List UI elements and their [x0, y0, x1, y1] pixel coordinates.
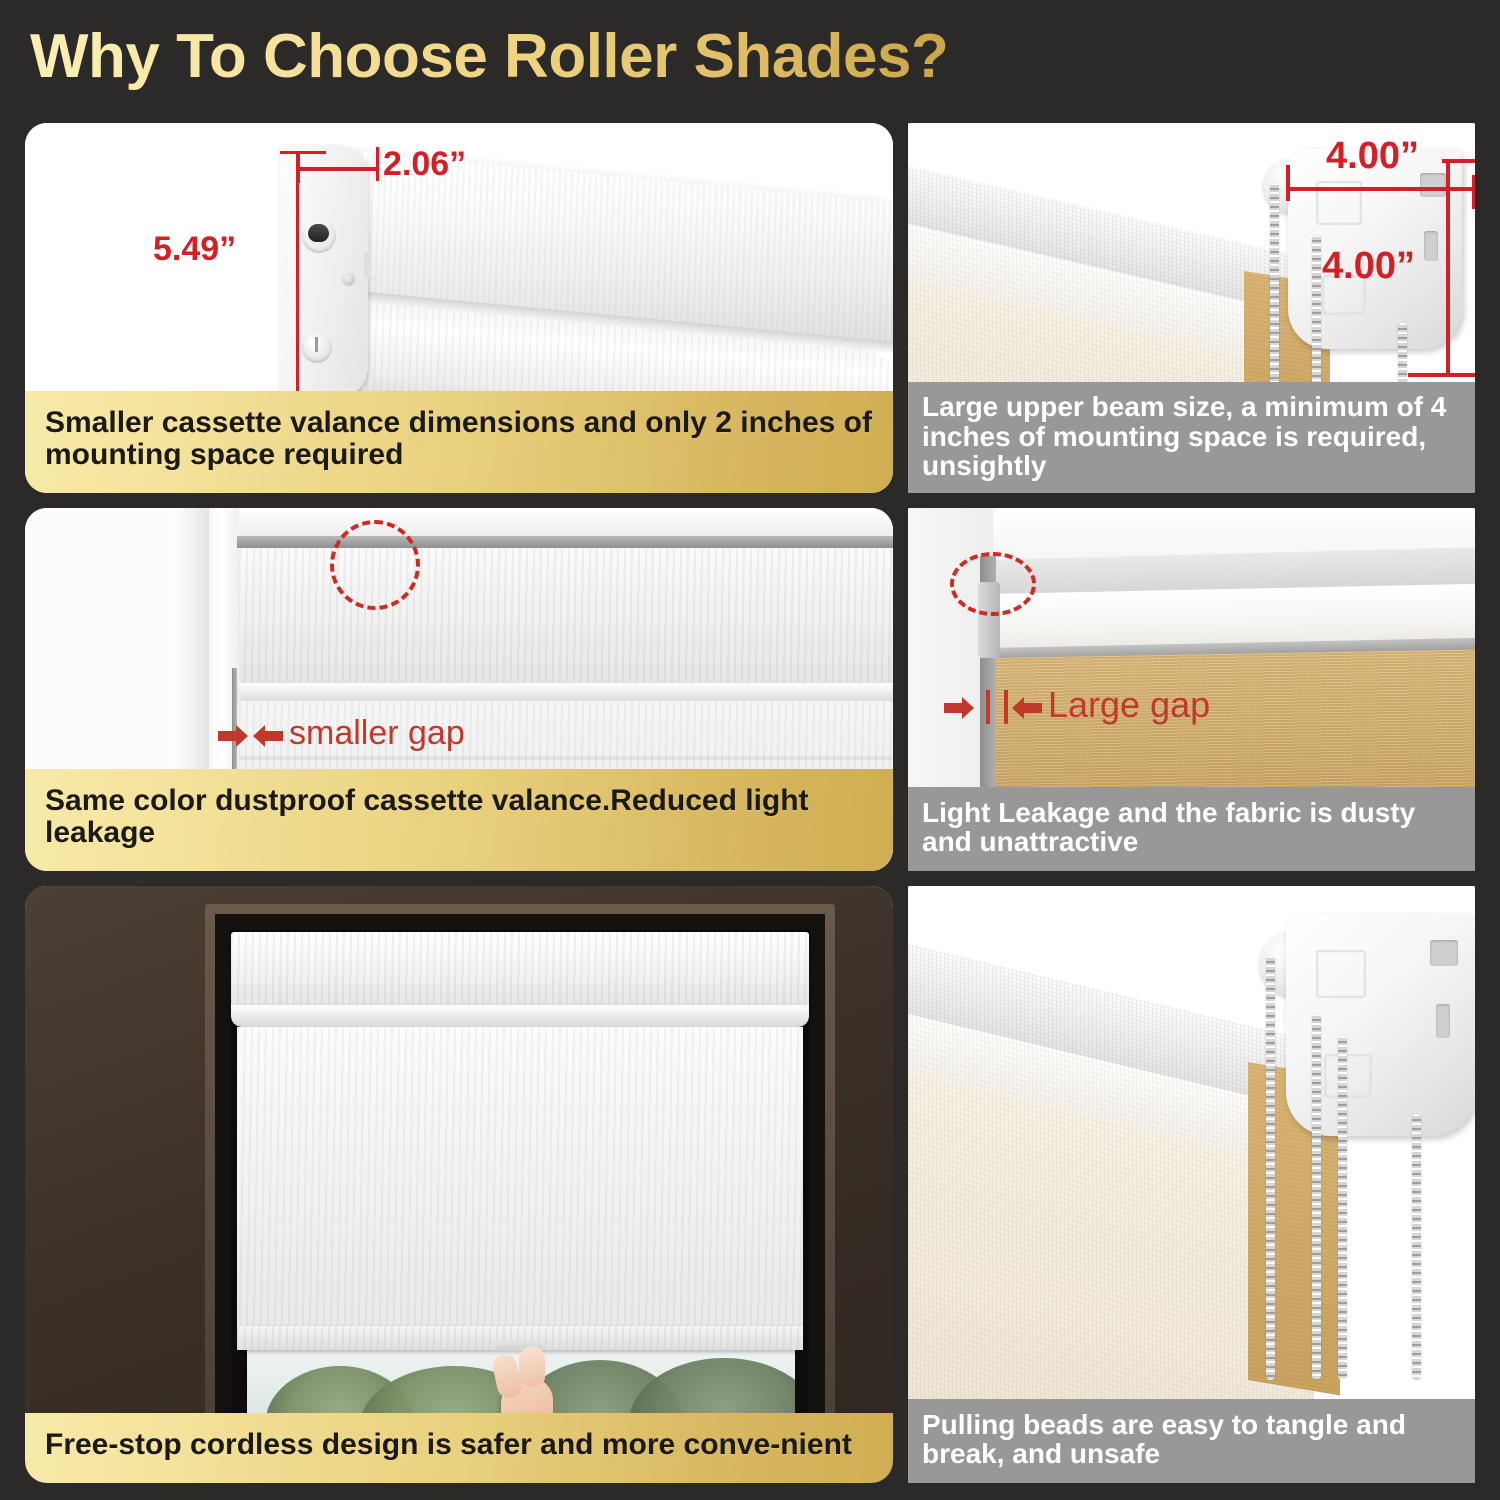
bracket-height-dim-line: [1446, 159, 1450, 377]
gap-arrow-left-icon: [944, 696, 974, 720]
gap-tick-inner: [986, 690, 990, 724]
panel-light-leakage: Large gap Light Leakage and the fabric i…: [908, 508, 1475, 871]
gap-arrow-right-icon: [1012, 696, 1042, 720]
panel-pulling-beads: Pulling beads are easy to tangle and bre…: [908, 886, 1475, 1483]
room-window-photo: [25, 886, 893, 1483]
page-title: Why To Choose Roller Shades?: [30, 21, 948, 92]
window-frame-top: [173, 508, 893, 538]
bracket-slot-middle: [1436, 1004, 1450, 1038]
panel-2-caption: Large upper beam size, a minimum of 4 in…: [908, 382, 1475, 493]
bracket-slot-top: [1420, 173, 1446, 197]
tan-shade-fabric: [992, 649, 1475, 803]
highlight-circle-icon: [950, 552, 1036, 616]
depth-dimension-label: 2.06”: [383, 145, 466, 184]
cassette-valance: [231, 932, 809, 1010]
end-cap-pin-icon: [302, 333, 332, 363]
roller-shade-fabric: [237, 1027, 803, 1332]
bracket-emboss-lower: [1324, 1054, 1372, 1098]
bracket-emboss-upper: [1316, 950, 1366, 998]
smaller-gap-label: smaller gap: [289, 714, 465, 753]
valance-end-cap: [280, 145, 368, 400]
depth-dim-tick-right: [376, 147, 379, 181]
height-dim-tick-top: [280, 151, 326, 154]
height-dimension-label: 5.49”: [153, 230, 236, 269]
bead-chain-middle: [1312, 1014, 1321, 1380]
bracket-slot-top: [1430, 940, 1458, 966]
bracket-height-tick-top: [1442, 159, 1475, 163]
shade-fabric-seam: [239, 756, 893, 760]
gap-arrow-left-icon: [218, 724, 248, 748]
panel-4-caption: Light Leakage and the fabric is dusty an…: [908, 787, 1475, 871]
panel-6-caption: Pulling beads are easy to tangle and bre…: [908, 1399, 1475, 1483]
panel-5-caption: Free-stop cordless design is safer and m…: [25, 1413, 893, 1483]
panel-dustproof-cassette-valance: smaller gap Same color dustproof cassett…: [25, 508, 893, 871]
panel-1-caption: Smaller cassette valance dimensions and …: [25, 391, 893, 493]
bead-chain-front: [1266, 956, 1275, 1380]
panel-large-upper-beam: 4.00” 4.00” Large upper beam size, a min…: [908, 123, 1475, 493]
cassette-valance-lip: [239, 683, 893, 701]
cassette-valance-lip: [231, 1005, 809, 1027]
bearing-core: [308, 224, 329, 242]
fingers: [519, 1346, 545, 1386]
bracket-width-label: 4.00”: [1326, 135, 1419, 178]
gap-arrow-right-icon: [253, 724, 283, 748]
panel-cordless-design: Free-stop cordless design is safer and m…: [25, 886, 893, 1483]
bracket-height-label: 4.00”: [1322, 245, 1415, 288]
bracket-width-tick-right: [1472, 175, 1475, 209]
bead-chain-photo: [908, 886, 1475, 1483]
bracket-slot-middle: [1424, 231, 1438, 261]
depth-dim-line: [297, 167, 379, 171]
bead-chain-inner: [1338, 1036, 1347, 1380]
end-cap-bearing-icon: [302, 219, 336, 253]
bracket-width-tick-left: [1286, 165, 1290, 201]
gap-tick-outer: [1004, 690, 1008, 724]
large-gap-label: Large gap: [1048, 684, 1210, 726]
bead-chain-rear: [1412, 1114, 1421, 1380]
panel-3-caption: Same color dustproof cassette valance.Re…: [25, 769, 893, 871]
title-bar: Why To Choose Roller Shades?: [0, 0, 1500, 118]
panel-smaller-cassette-valance: 2.06” 5.49” Smaller cassette valance dim…: [25, 123, 893, 493]
screw-icon: [342, 273, 355, 286]
highlight-circle-icon: [330, 520, 420, 610]
bracket-height-tick-bottom: [1408, 373, 1475, 377]
